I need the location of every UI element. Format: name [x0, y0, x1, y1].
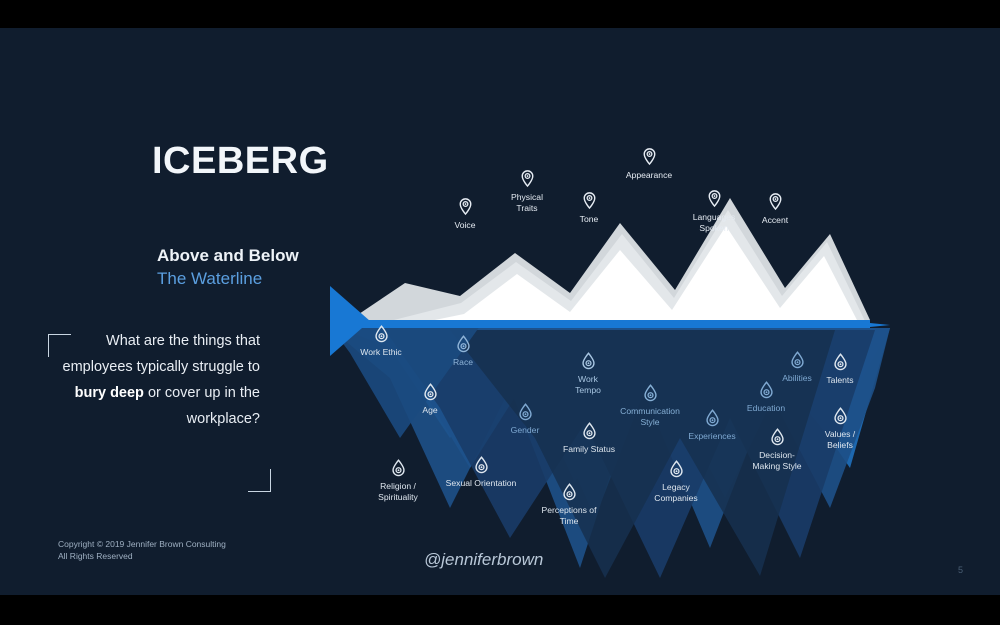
- quote-part-1: What are the things that employees typic…: [63, 333, 260, 375]
- marker-label: Legacy Companies: [621, 482, 731, 503]
- slide-canvas: ICEBERG Above and Below The Waterline Wh…: [0, 28, 1000, 595]
- droplet-pin-icon: [374, 325, 389, 344]
- droplet-pin-icon: [643, 384, 658, 403]
- droplet-pin-icon: [423, 383, 438, 402]
- droplet-pin-icon: [759, 381, 774, 400]
- marker-label: Talents: [785, 375, 895, 386]
- iceberg-marker-perceptions-of-time: Perceptions of Time: [514, 483, 624, 526]
- map-pin-icon: [768, 193, 783, 212]
- marker-label: Age: [375, 405, 485, 416]
- marker-label: Voice: [410, 220, 520, 231]
- quote-text: What are the things that employees typic…: [60, 328, 260, 432]
- iceberg-marker-race: Race: [408, 335, 518, 368]
- marker-label: Tone: [534, 214, 644, 225]
- letterbox-top: [0, 0, 1000, 28]
- subtitle-line-1: Above and Below: [157, 246, 299, 266]
- map-pin-icon: [458, 198, 473, 217]
- iceberg-marker-talents: Talents: [785, 353, 895, 386]
- map-pin-icon: [520, 170, 535, 189]
- droplet-pin-icon: [581, 352, 596, 371]
- droplet-pin-icon: [833, 353, 848, 372]
- letterbox-bottom: [0, 595, 1000, 625]
- droplet-pin-icon: [562, 483, 577, 502]
- copyright-line-2: All Rights Reserved: [58, 550, 226, 562]
- iceberg-marker-family-status: Family Status: [534, 422, 644, 455]
- quote-bracket-bottom-right: [248, 469, 271, 492]
- copyright-line-1: Copyright © 2019 Jennifer Brown Consulti…: [58, 538, 226, 550]
- droplet-pin-icon: [582, 422, 597, 441]
- iceberg-marker-age: Age: [375, 383, 485, 416]
- droplet-pin-icon: [474, 456, 489, 475]
- subtitle-line-2: The Waterline: [157, 269, 262, 289]
- marker-label: Family Status: [534, 444, 644, 455]
- droplet-pin-icon: [456, 335, 471, 354]
- marker-label: Appearance: [594, 170, 704, 181]
- quote-emphasis: bury deep: [75, 385, 144, 401]
- droplet-pin-icon: [770, 428, 785, 447]
- marker-label: Perceptions of Time: [514, 505, 624, 526]
- marker-label: Race: [408, 357, 518, 368]
- droplet-pin-icon: [833, 407, 848, 426]
- iceberg-marker-appearance: Appearance: [594, 148, 704, 181]
- slide-root: ICEBERG Above and Below The Waterline Wh…: [0, 0, 1000, 625]
- page-title: ICEBERG: [152, 140, 329, 183]
- droplet-pin-icon: [518, 403, 533, 422]
- droplet-pin-icon: [391, 459, 406, 478]
- iceberg-right-tip: [860, 322, 890, 328]
- marker-label: Values / Beliefs: [785, 429, 895, 450]
- map-pin-icon: [642, 148, 657, 167]
- marker-label: Decision- Making Style: [722, 450, 832, 471]
- iceberg-marker-legacy-companies: Legacy Companies: [621, 460, 731, 503]
- social-handle: @jenniferbrown: [424, 550, 543, 570]
- copyright-notice: Copyright © 2019 Jennifer Brown Consulti…: [58, 538, 226, 562]
- iceberg-marker-tone: Tone: [534, 192, 644, 225]
- page-number: 5: [958, 565, 963, 575]
- iceberg-marker-accent: Accent: [720, 193, 830, 226]
- map-pin-icon: [582, 192, 597, 211]
- quote-part-2: or cover up in the workplace?: [144, 385, 260, 427]
- iceberg-marker-values-beliefs: Values / Beliefs: [785, 407, 895, 450]
- droplet-pin-icon: [669, 460, 684, 479]
- marker-label: Accent: [720, 215, 830, 226]
